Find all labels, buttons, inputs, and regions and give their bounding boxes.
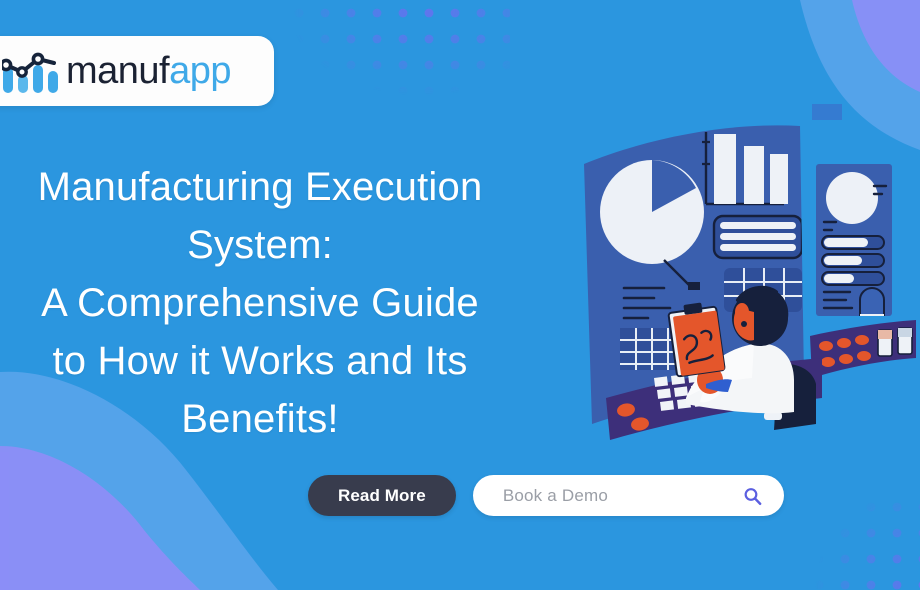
page-title: Manufacturing Execution System: A Compre… <box>0 158 520 448</box>
hero-banner: manufapp Manufacturing Execution System:… <box>0 0 920 590</box>
logo-card[interactable]: manufapp <box>0 36 274 106</box>
operator-at-control-dashboard-illustration <box>578 112 918 442</box>
logo-word-blue: app <box>169 50 231 92</box>
headline-line-5: Benefits! <box>0 390 520 448</box>
logo-wordmark: manufapp <box>66 52 231 90</box>
magnifier-icon[interactable] <box>743 486 762 505</box>
logo-word-dark: manuf <box>66 50 169 92</box>
book-a-demo-input[interactable] <box>501 480 730 512</box>
headline-line-4: to How it Works and Its <box>0 332 520 390</box>
headline-line-1: Manufacturing Execution <box>0 158 520 216</box>
headline-line-2: System: <box>0 216 520 274</box>
headline-line-3: A Comprehensive Guide <box>0 274 520 332</box>
cta-row: Read More <box>308 475 784 516</box>
read-more-button[interactable]: Read More <box>308 475 456 516</box>
book-a-demo-field[interactable] <box>473 475 784 516</box>
bar-line-chart-logo-icon <box>2 49 60 93</box>
